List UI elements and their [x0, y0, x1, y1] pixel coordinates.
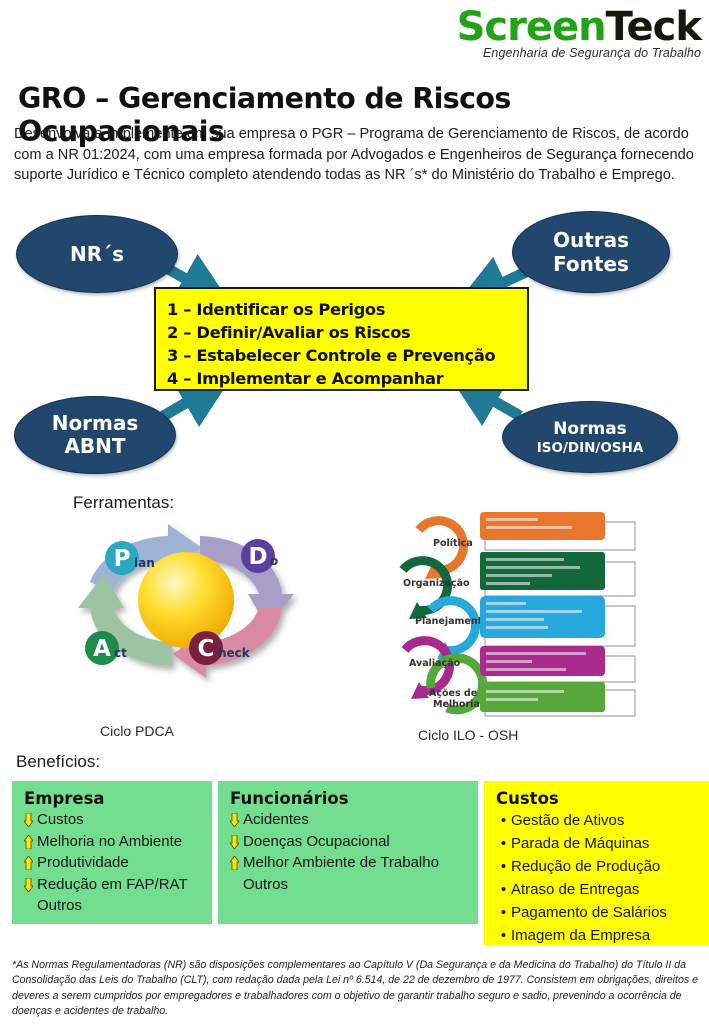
bullet-icon: •: [496, 924, 511, 947]
source-node-iso-line2: ISO/DIN/OSHA: [537, 440, 644, 456]
bullet-icon: •: [496, 809, 511, 832]
tools-section-label: Ferramentas:: [73, 493, 174, 513]
list-item: •Parada de Máquinas: [496, 832, 699, 855]
company-logo: ScreenTeck Engenharia de Segurança do Tr…: [449, 6, 701, 68]
pdca-cycle-graphic: P lan D o C heck A ct: [60, 520, 320, 720]
arrow-up-icon: [24, 831, 37, 849]
benefits-column-empresa: Empresa Custos Melhoria no Ambiente Prod…: [12, 781, 212, 924]
gro-step-1: 1 – Identificar os Perigos: [167, 298, 527, 321]
list-item: Melhoria no Ambiente: [24, 831, 202, 853]
ilo-stage-label-acoes-2: Melhoria: [433, 699, 480, 710]
gro-step-4: 4 – Implementar e Acompanhar: [167, 367, 527, 390]
bullet-icon: •: [496, 878, 511, 901]
arrow-up-icon: [230, 852, 243, 870]
benefits-section-label: Benefícios:: [16, 752, 100, 772]
list-item: Outros: [230, 874, 468, 896]
svg-text:A: A: [93, 636, 111, 662]
logo-tagline: Engenharia de Segurança do Trabalho: [449, 46, 701, 60]
gro-diagram: NR´s Outras Fontes Normas ABNT Normas IS…: [0, 203, 709, 481]
benefits-title-funcionarios: Funcionários: [230, 789, 468, 808]
ilo-stage-label-organizacao: Organização: [403, 578, 470, 589]
gro-steps-box: 1 – Identificar os Perigos 2 – Definir/A…: [154, 287, 529, 391]
arrow-down-icon: [230, 809, 243, 827]
list-item: Melhor Ambiente de Trabalho: [230, 852, 468, 874]
svg-text:o: o: [270, 554, 278, 568]
ilo-caption: Ciclo ILO - OSH: [418, 727, 518, 743]
list-item: •Pagamento de Salários: [496, 901, 699, 924]
source-node-outras-line1: Outras: [553, 228, 629, 252]
list-item: •Imagem da Empresa: [496, 924, 699, 947]
bullet-icon: •: [496, 855, 511, 878]
gro-step-2: 2 – Definir/Avaliar os Riscos: [167, 321, 527, 344]
benefits-list-funcionarios: Acidentes Doenças Ocupacional Melhor Amb…: [230, 809, 468, 895]
intro-paragraph: Desenvolva e Implemente em sua empresa o…: [14, 124, 700, 186]
logo-word-screen: Screen: [457, 4, 606, 50]
source-node-outras-fontes[interactable]: Outras Fontes: [512, 211, 670, 293]
source-node-normas-iso[interactable]: Normas ISO/DIN/OSHA: [502, 401, 678, 473]
list-item: Custos: [24, 809, 202, 831]
benefits-title-empresa: Empresa: [24, 789, 202, 808]
benefits-column-custos: Custos •Gestão de Ativos •Parada de Máqu…: [484, 781, 709, 945]
source-node-nrs[interactable]: NR´s: [16, 215, 178, 293]
list-item: •Gestão de Ativos: [496, 809, 699, 832]
ilo-stage-label-planejamento: Planejamento: [415, 616, 489, 627]
benefits-list-custos: •Gestão de Ativos •Parada de Máquinas •R…: [496, 809, 699, 947]
ilo-stage-label-politica: Política: [433, 538, 473, 549]
list-item: Doenças Ocupacional: [230, 831, 468, 853]
svg-text:heck: heck: [218, 646, 251, 660]
source-node-normas-abnt[interactable]: Normas ABNT: [14, 396, 176, 474]
svg-text:C: C: [198, 636, 215, 662]
ilo-osh-cycle-graphic: Política Organização Planejamento Avalia…: [385, 500, 650, 722]
list-item: Redução em FAP/RAT: [24, 874, 202, 896]
list-item: Acidentes: [230, 809, 468, 831]
bullet-icon: •: [496, 832, 511, 855]
benefits-title-custos: Custos: [496, 789, 699, 808]
logo-word-teck: Teck: [606, 4, 701, 50]
logo-wordmark: ScreenTeck: [449, 6, 701, 48]
source-node-abnt-line1: Normas: [52, 412, 139, 435]
arrow-up-icon: [24, 852, 37, 870]
svg-text:lan: lan: [134, 556, 155, 570]
svg-text:P: P: [114, 546, 131, 572]
list-item: Produtividade: [24, 852, 202, 874]
arrow-down-icon: [230, 831, 243, 849]
pdca-caption: Ciclo PDCA: [100, 723, 174, 739]
svg-text:ct: ct: [114, 646, 127, 660]
ilo-stage-label-avaliacao: Avaliação: [409, 658, 461, 669]
list-item: •Redução de Produção: [496, 855, 699, 878]
svg-text:D: D: [248, 544, 267, 570]
benefits-list-empresa: Custos Melhoria no Ambiente Produtividad…: [24, 809, 202, 917]
bullet-icon: •: [496, 901, 511, 924]
list-item: Outros: [24, 895, 202, 917]
benefits-column-funcionarios: Funcionários Acidentes Doenças Ocupacion…: [218, 781, 478, 924]
list-item: •Atraso de Entregas: [496, 878, 699, 901]
arrow-down-icon: [24, 874, 37, 892]
source-node-outras-line2: Fontes: [553, 252, 629, 276]
ilo-stage-label-acoes-1: Ações de: [429, 688, 477, 699]
arrow-down-icon: [24, 809, 37, 827]
gro-step-3: 3 – Estabelecer Controle e Prevenção: [167, 344, 527, 367]
source-node-nrs-label: NR´s: [70, 242, 124, 266]
source-node-abnt-line2: ABNT: [64, 435, 125, 458]
footnote-text: *As Normas Regulamentadoras (NR) são dis…: [12, 958, 702, 1020]
source-node-iso-line1: Normas: [553, 419, 627, 439]
